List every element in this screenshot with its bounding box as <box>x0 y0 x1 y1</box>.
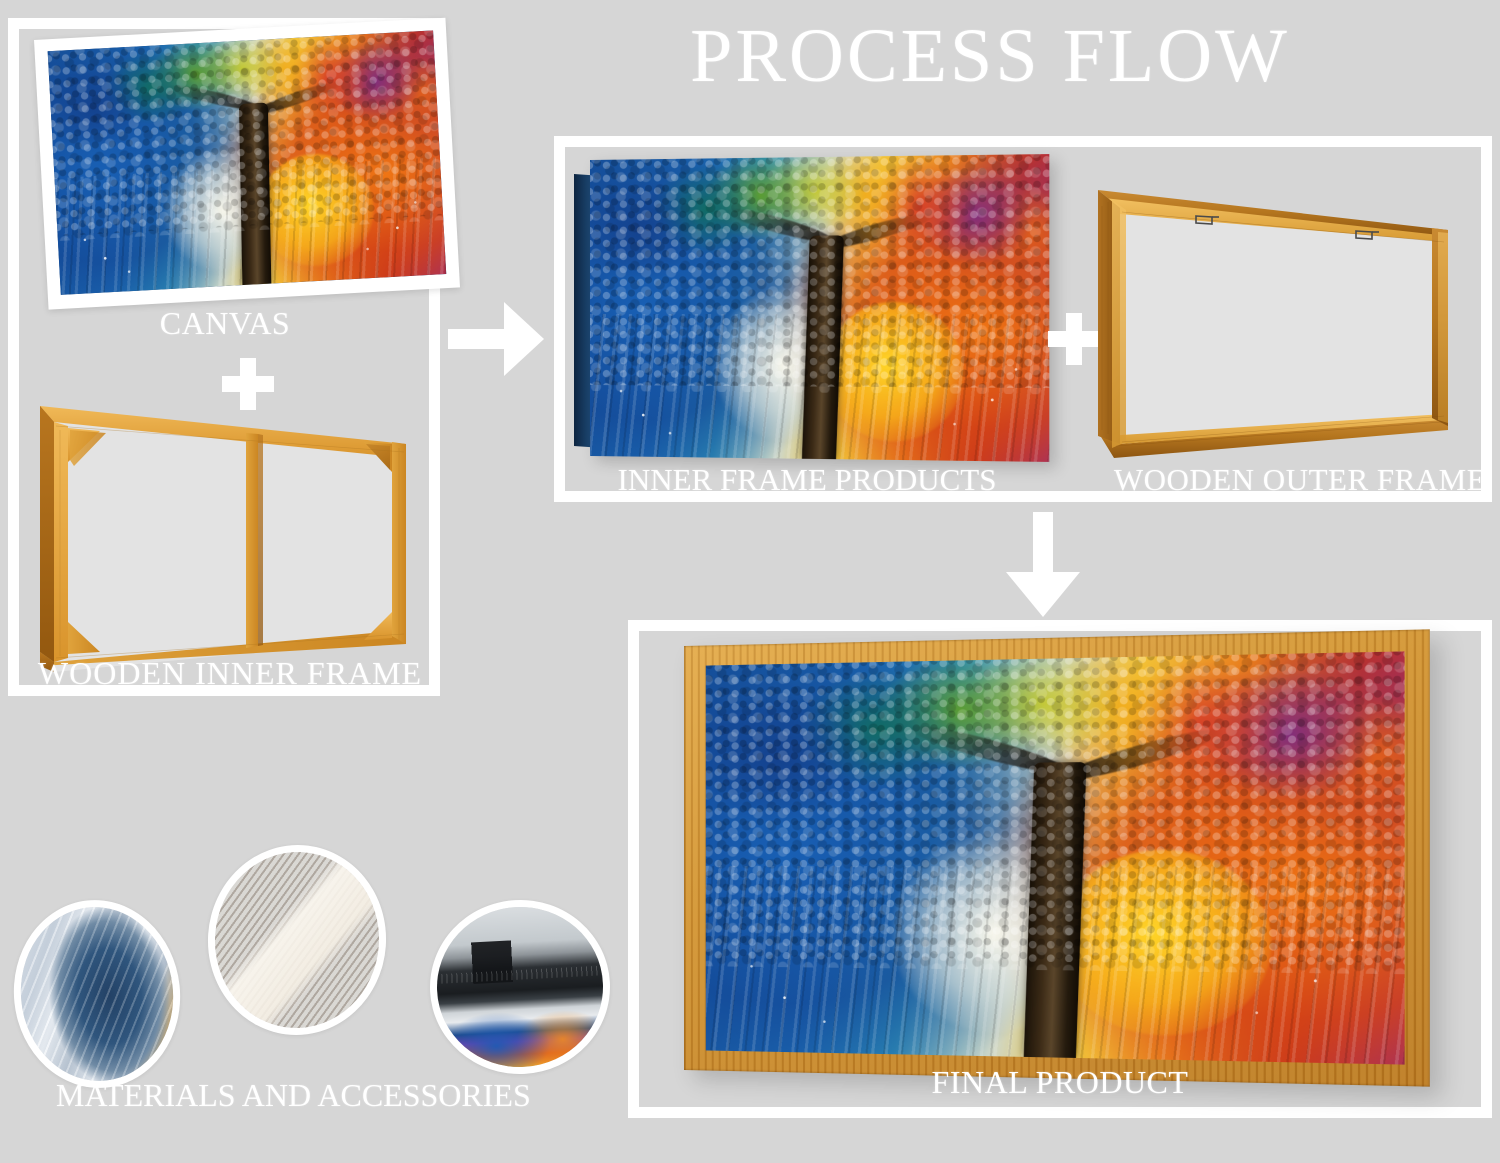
wooden-outer-frame-product[interactable] <box>1092 186 1470 464</box>
final-product-frame-wrapper <box>684 629 1430 1086</box>
label-final-product: FINAL PRODUCT <box>890 1064 1230 1101</box>
label-wooden-inner-frame: WOODEN INNER FRAME <box>20 655 440 692</box>
page-title: PROCESS FLOW <box>640 14 1340 98</box>
inner-frame-product[interactable] <box>574 160 1034 458</box>
wooden-inner-frame-product[interactable] <box>34 400 424 685</box>
inner-frame-svg <box>34 400 424 685</box>
material-photo-stretcher-bar[interactable] <box>202 839 393 1041</box>
artwork-canvas <box>48 30 447 295</box>
artwork-final <box>706 651 1405 1064</box>
canvas-product[interactable] <box>34 18 460 310</box>
arrow-down-icon <box>1006 512 1080 624</box>
artwork-inner-frame <box>590 154 1049 462</box>
outer-frame-svg <box>1092 186 1470 464</box>
final-product[interactable] <box>684 646 1384 1070</box>
label-canvas: CANVAS <box>60 305 390 342</box>
material-photo-printer[interactable] <box>426 895 615 1078</box>
material-photo-canvas-roll[interactable] <box>5 892 190 1096</box>
label-inner-frame-products: INNER FRAME PRODUCTS <box>592 462 1022 498</box>
label-materials-and-accessories: MATERIALS AND ACCESSORIES <box>56 1077 526 1114</box>
process-flow-poster: PROCESS FLOW CANVAS <box>0 0 1500 1163</box>
label-wooden-outer-frame: WOODEN OUTER FRAME <box>1100 462 1500 498</box>
arrow-right-icon <box>448 302 544 376</box>
